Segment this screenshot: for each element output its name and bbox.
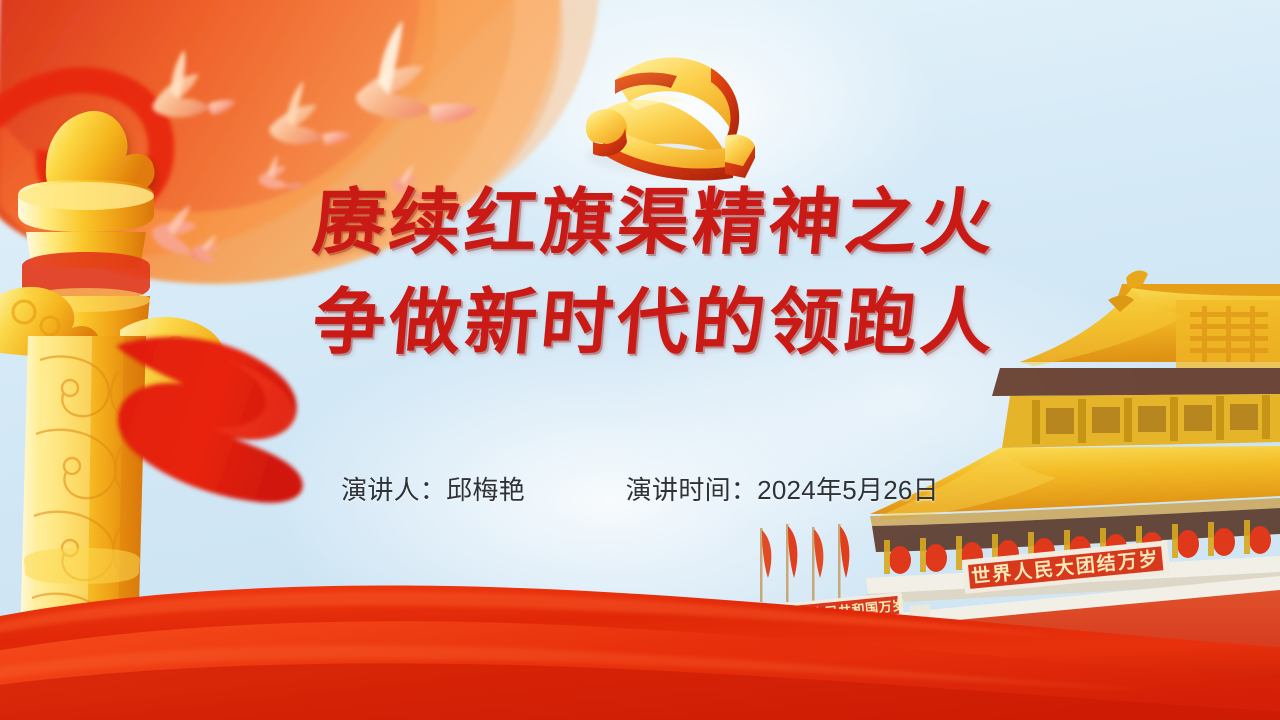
title-line-1: 赓续红旗渠精神之火: [0, 186, 1280, 258]
presentation-title-slide: 世界人民大团结万岁 中华人民共和国万岁 赓续红旗渠精神之: [0, 0, 1280, 720]
title-block: 赓续红旗渠精神之火 争做新时代的领跑人: [0, 186, 1280, 358]
cpc-hammer-sickle-emblem: [586, 58, 755, 181]
presentation-meta: 演讲人：邱梅艳 演讲时间：2024年5月26日: [0, 470, 1280, 507]
flag-icon: [760, 524, 849, 602]
speaker-label: 演讲人：邱梅艳: [341, 475, 525, 505]
title-line-2: 争做新时代的领跑人: [0, 286, 1280, 358]
date-label: 演讲时间：2024年5月26日: [626, 475, 939, 505]
